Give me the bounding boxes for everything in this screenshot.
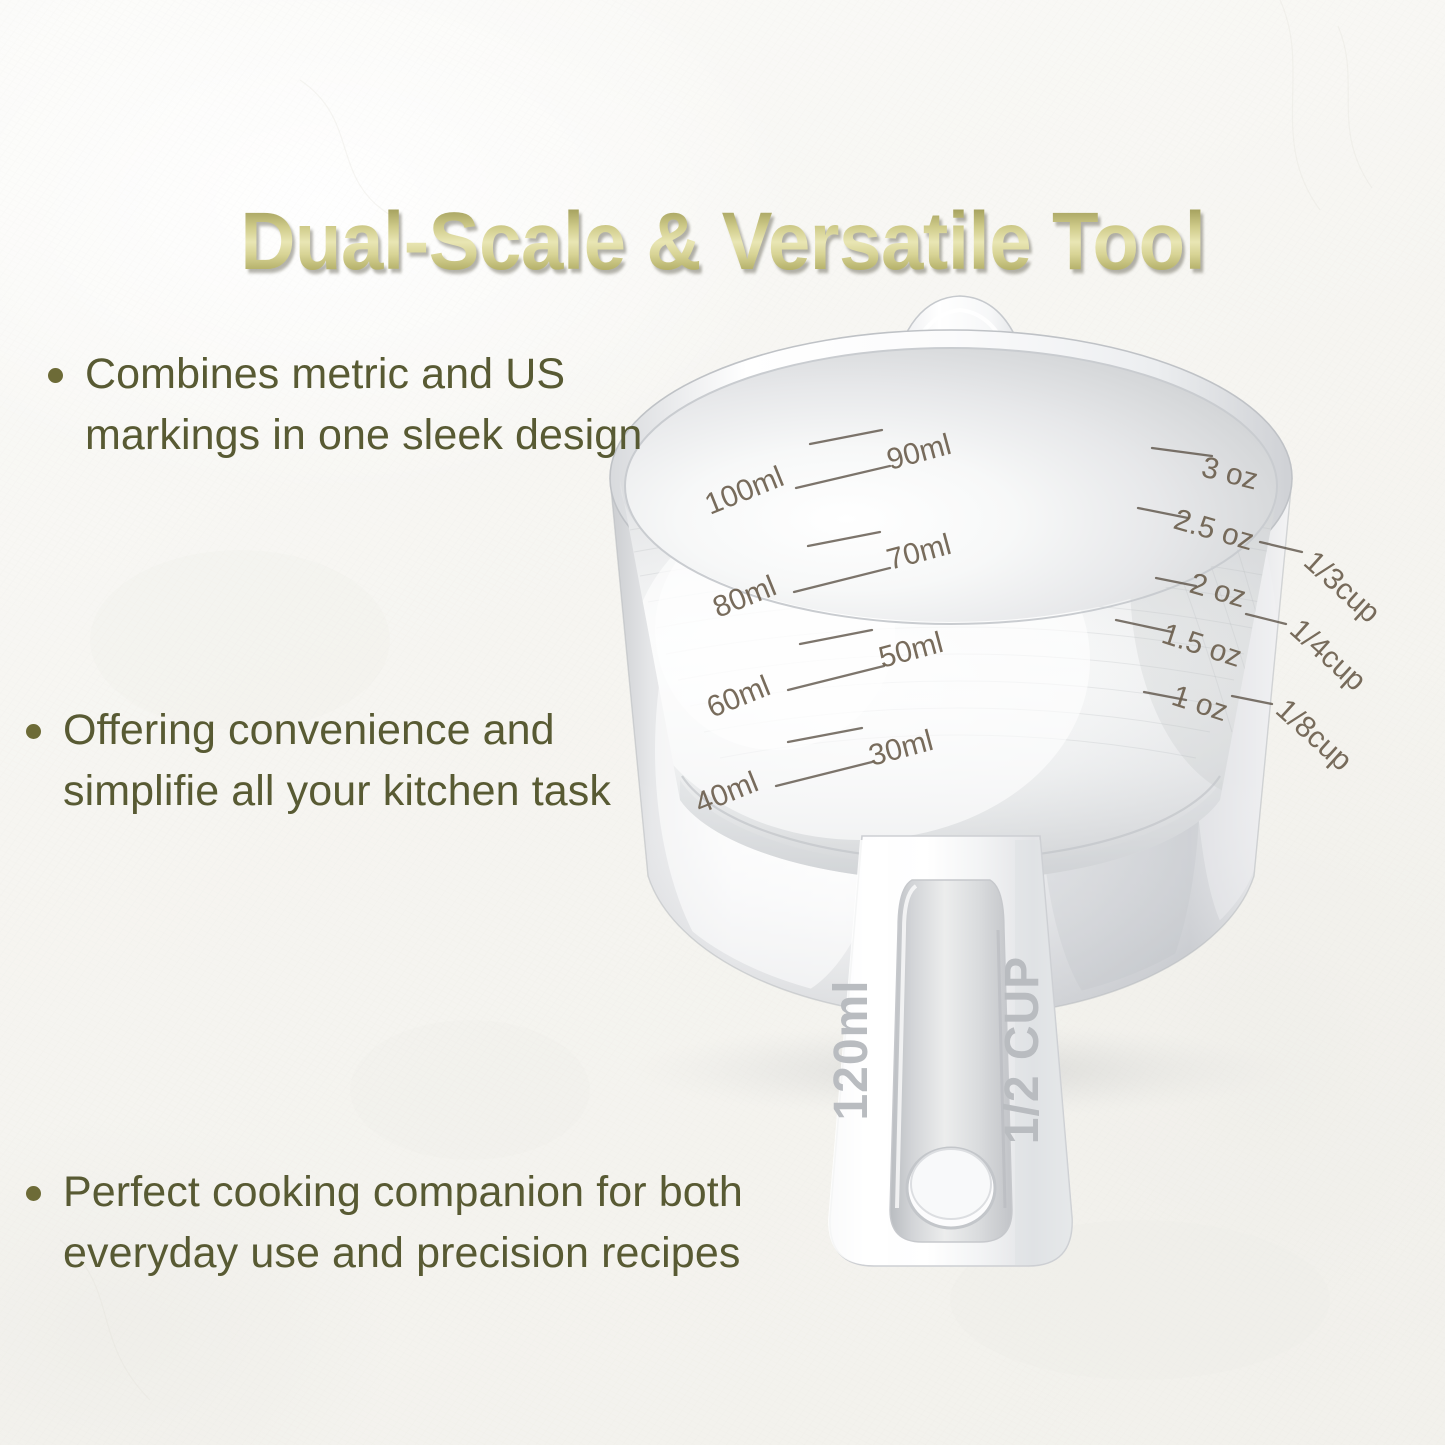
feature-bullet-3-text: Perfect cooking companion for both every…: [63, 1162, 766, 1285]
bullet-dot-icon: [26, 724, 41, 739]
feature-bullet-1: Combines metric and US markings in one s…: [48, 344, 648, 467]
handle-metric-label: 120ml: [825, 979, 878, 1120]
handle-hanging-hole: [907, 1148, 995, 1228]
page-title: Dual-Scale & Versatile Tool: [240, 195, 1205, 289]
feature-bullet-2-text: Offering convenience and simplifie all y…: [63, 700, 616, 823]
bullet-dot-icon: [48, 368, 63, 383]
feature-bullet-1-text: Combines metric and US markings in one s…: [85, 344, 648, 467]
cup-mark-label: 1/4cup: [1283, 613, 1372, 698]
bullet-dot-icon: [26, 1186, 41, 1201]
handle-us-label: 1/2 CUP: [996, 956, 1049, 1144]
cup-handle: 120ml 1/2 CUP: [825, 836, 1077, 1276]
feature-bullet-2: Offering convenience and simplifie all y…: [26, 700, 616, 823]
title-container: Dual-Scale & Versatile Tool: [0, 140, 1445, 344]
cup-mark-label: 1/8cup: [1269, 693, 1358, 778]
feature-bullet-3: Perfect cooking companion for both every…: [26, 1162, 766, 1285]
